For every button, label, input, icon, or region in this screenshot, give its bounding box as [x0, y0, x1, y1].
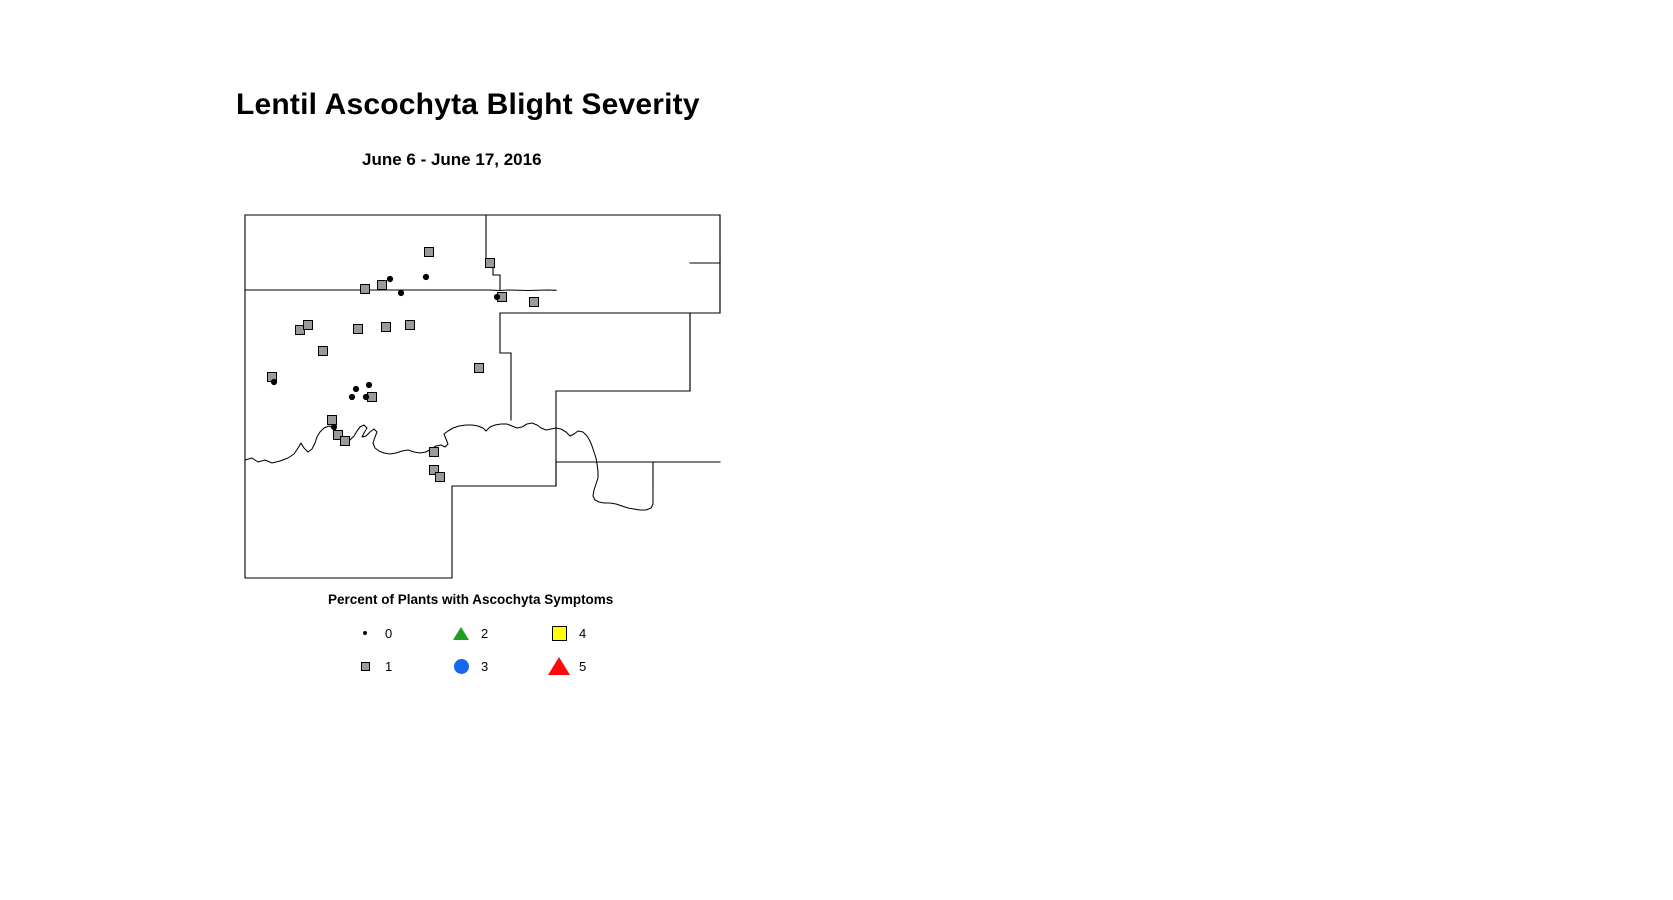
- legend-item-label: 1: [385, 660, 392, 673]
- square-yellow-icon: [548, 622, 570, 644]
- river-boundary: [245, 423, 653, 510]
- legend-row-top: 0 2 4: [328, 619, 668, 647]
- legend-row-bottom: 1 3 5: [328, 652, 668, 680]
- marker-severity-0: [423, 274, 429, 280]
- legend-item-3: 3: [450, 652, 488, 680]
- legend-item-label: 0: [385, 627, 392, 640]
- square-gray-icon: [354, 655, 376, 677]
- marker-severity-0: [387, 276, 393, 282]
- marker-severity-1: [319, 347, 328, 356]
- marker-severity-1: [406, 321, 415, 330]
- marker-severity-1: [425, 248, 434, 257]
- marker-severity-1: [430, 448, 439, 457]
- figure-canvas: Lentil Ascochyta Blight Severity June 6 …: [0, 0, 1673, 900]
- marker-severity-1: [361, 285, 370, 294]
- marker-severity-0: [366, 382, 372, 388]
- county-map-svg: [238, 205, 738, 590]
- marker-severity-0: [271, 379, 277, 385]
- map-panel: [238, 205, 738, 590]
- legend: Percent of Plants with Ascochyta Symptom…: [328, 592, 668, 684]
- marker-severity-0: [494, 294, 500, 300]
- legend-item-label: 4: [579, 627, 586, 640]
- legend-title: Percent of Plants with Ascochyta Symptom…: [328, 592, 613, 607]
- marker-severity-1: [328, 416, 337, 425]
- legend-item-4: 4: [548, 619, 586, 647]
- circle-blue-icon: [450, 655, 472, 677]
- county-boundaries: [245, 215, 720, 578]
- page-title: Lentil Ascochyta Blight Severity: [236, 88, 700, 122]
- marker-severity-1: [382, 323, 391, 332]
- page-subtitle: June 6 - June 17, 2016: [362, 150, 542, 170]
- severity-markers: [268, 248, 539, 482]
- legend-item-5: 5: [548, 652, 586, 680]
- marker-severity-1: [304, 321, 313, 330]
- legend-item-label: 2: [481, 627, 488, 640]
- legend-item-label: 3: [481, 660, 488, 673]
- legend-item-2: 2: [450, 619, 488, 647]
- legend-item-0: 0: [354, 619, 392, 647]
- legend-item-1: 1: [354, 652, 392, 680]
- marker-severity-1: [475, 364, 484, 373]
- marker-severity-1: [354, 325, 363, 334]
- marker-severity-1: [378, 281, 387, 290]
- marker-severity-1-group: [268, 248, 539, 482]
- legend-item-label: 5: [579, 660, 586, 673]
- marker-severity-0: [363, 394, 369, 400]
- marker-severity-0: [353, 386, 359, 392]
- triangle-red-icon: [548, 655, 570, 677]
- triangle-green-icon: [450, 622, 472, 644]
- marker-severity-0: [331, 424, 337, 430]
- marker-severity-1: [530, 298, 539, 307]
- dot-black-icon: [354, 622, 376, 644]
- marker-severity-0-group: [271, 274, 500, 430]
- marker-severity-1: [486, 259, 495, 268]
- marker-severity-1: [436, 473, 445, 482]
- marker-severity-0: [349, 394, 355, 400]
- marker-severity-1: [341, 437, 350, 446]
- marker-severity-0: [398, 290, 404, 296]
